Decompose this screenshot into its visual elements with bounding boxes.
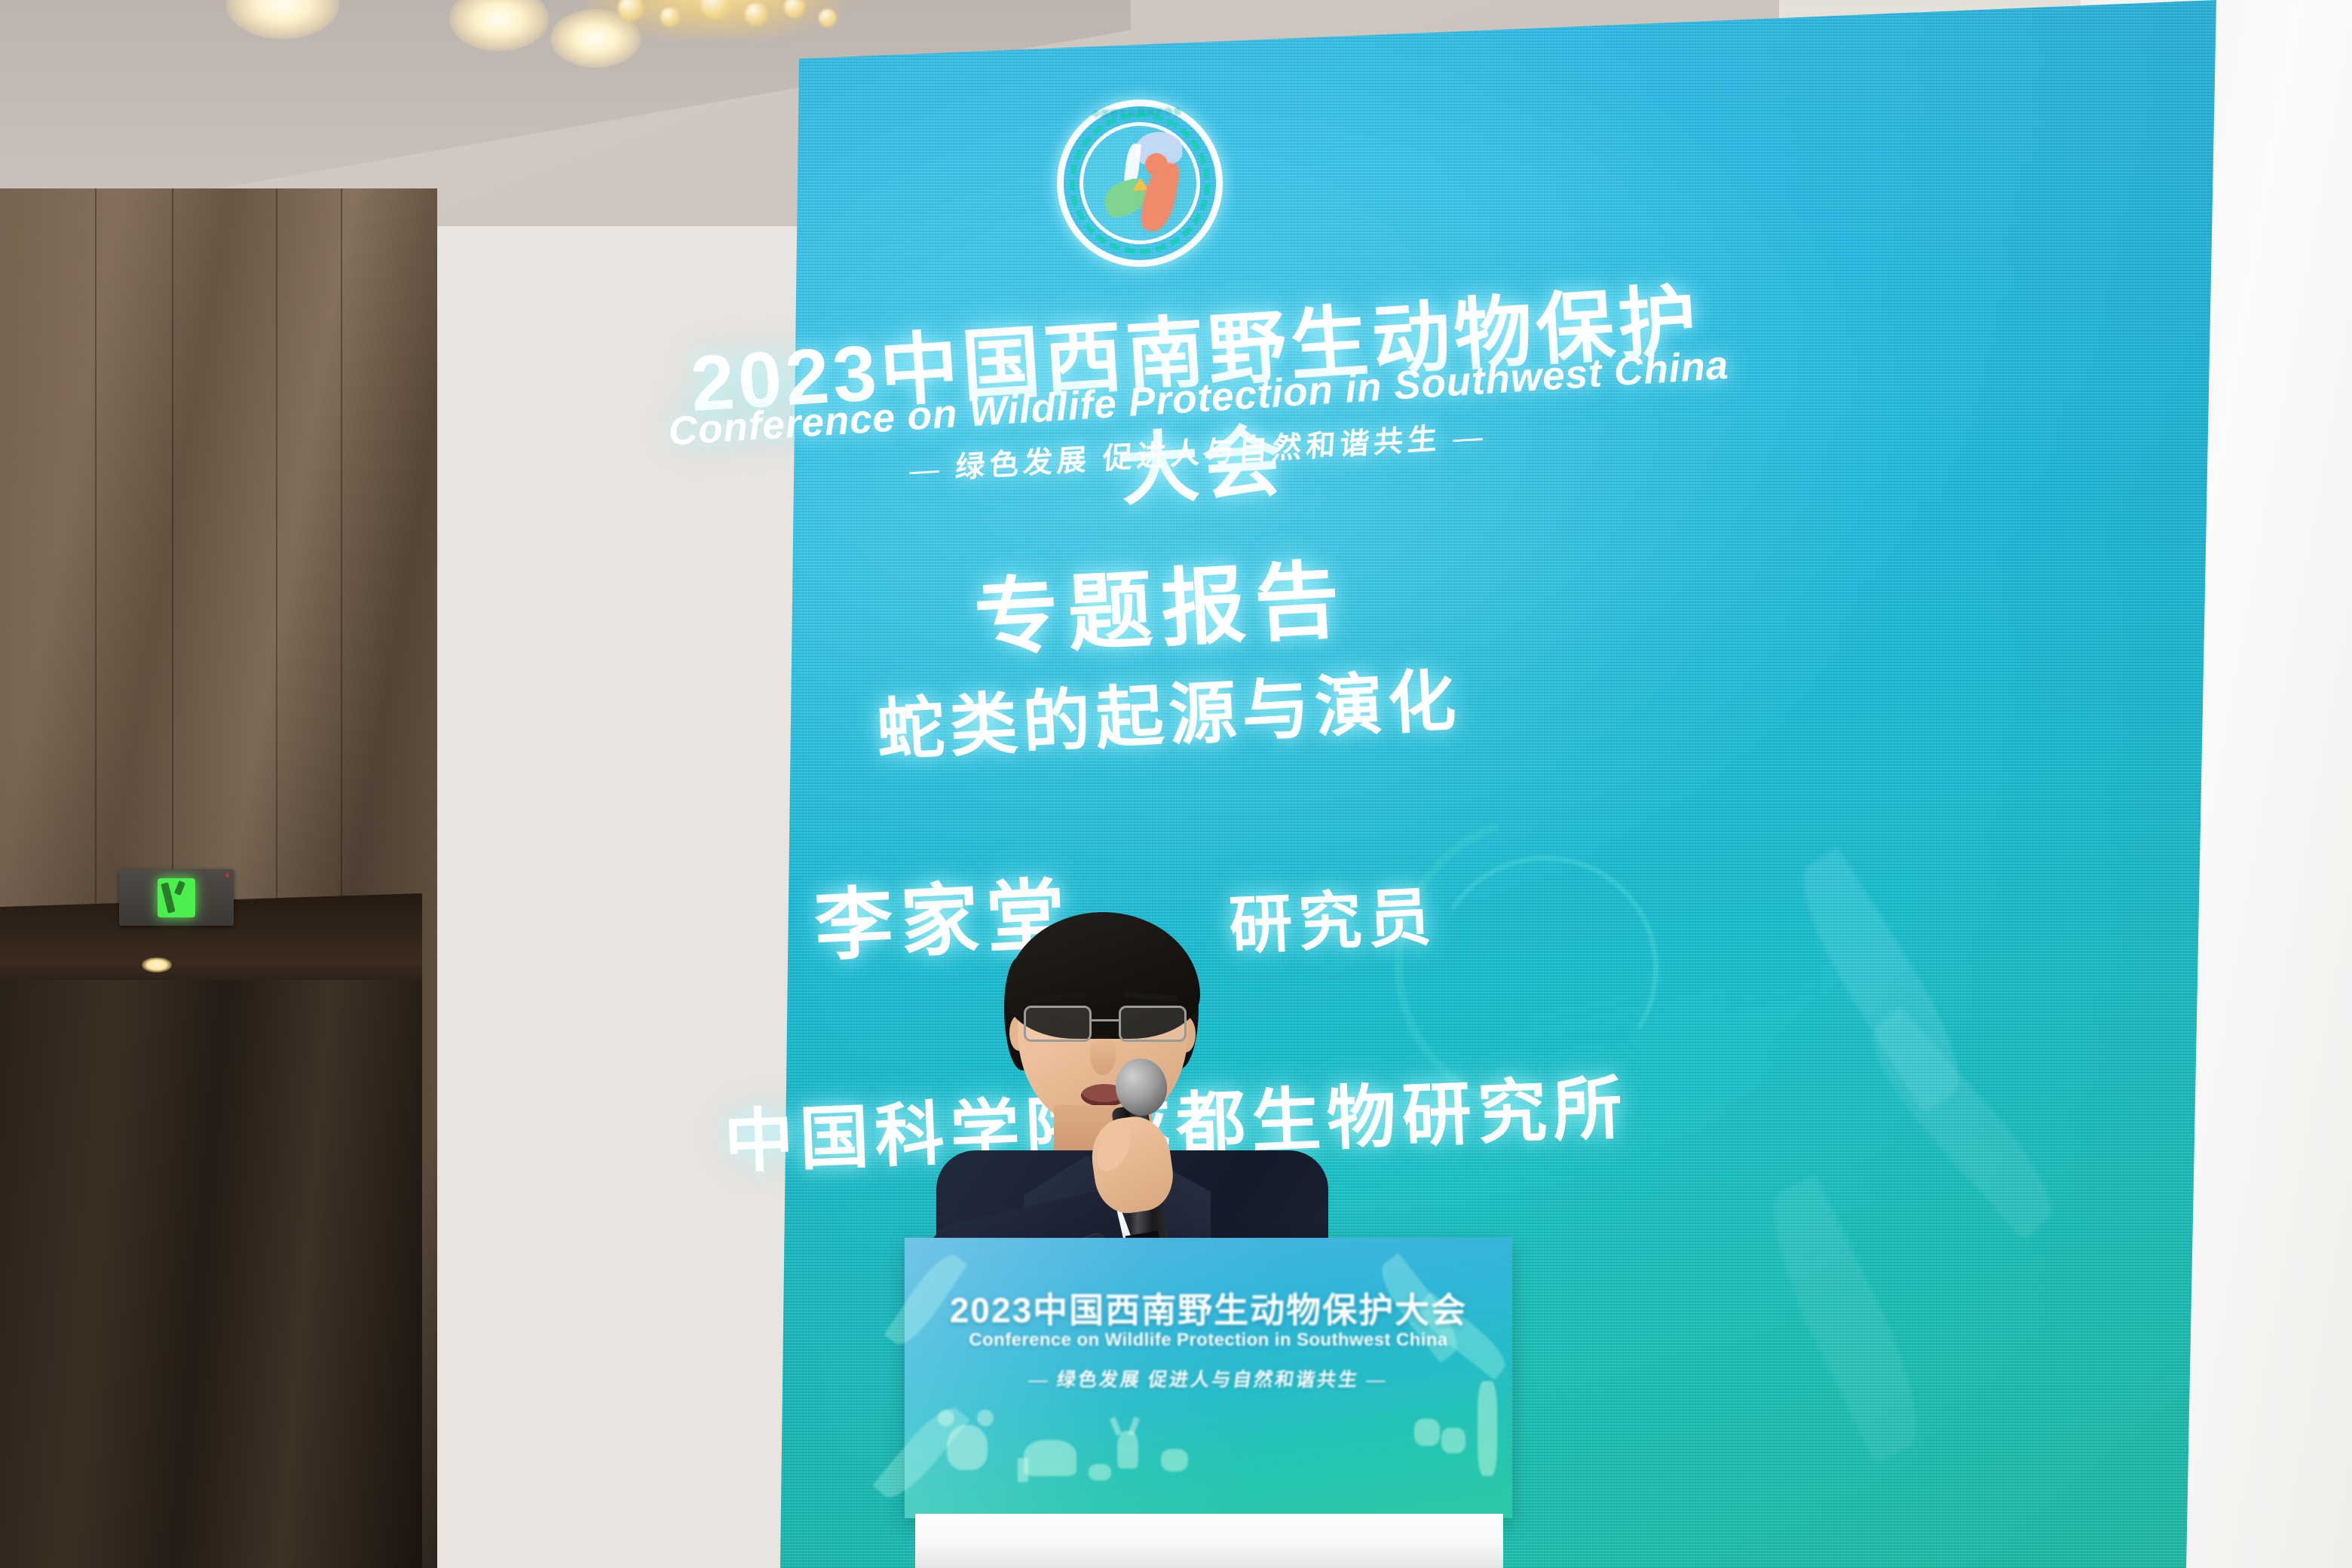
bamboo-leaf-decor — [482, 674, 711, 955]
running-man-icon — [158, 878, 195, 917]
podium-title-cn: 2023中国西南野生动物保护大会 — [905, 1283, 1512, 1333]
chandelier-bead — [819, 9, 837, 27]
exit-sign — [119, 869, 234, 926]
lens — [1119, 1006, 1187, 1042]
bamboo-stalk-decor — [461, 228, 559, 1279]
bamboo-stalk-decor — [574, 423, 648, 1401]
nose — [1090, 1034, 1116, 1075]
lens — [1024, 1006, 1092, 1042]
photo-scene: 中国野生动物保护协会 2023中国西南野生动物保护大会 Conference o… — [0, 0, 2352, 1568]
podium-slogan: — 绿色发展 促进人与自然和谐共生 — — [902, 1364, 1514, 1392]
podium-title-en: Conference on Wildlife Protection in Sou… — [905, 1330, 1512, 1351]
bridge — [1092, 1019, 1119, 1021]
podium: 2023中国西南野生动物保护大会 Conference on Wildlife … — [905, 1238, 1515, 1568]
podium-base — [915, 1514, 1503, 1568]
chandelier-bead — [745, 3, 767, 26]
chandelier-bead — [660, 8, 680, 27]
dark-doorway — [0, 980, 422, 1568]
soffit-downlight-icon — [142, 957, 172, 972]
wildlife-conservation-emblem-icon: 中国野生动物保护协会 — [1054, 96, 1226, 270]
indicator-led-icon — [225, 874, 229, 877]
